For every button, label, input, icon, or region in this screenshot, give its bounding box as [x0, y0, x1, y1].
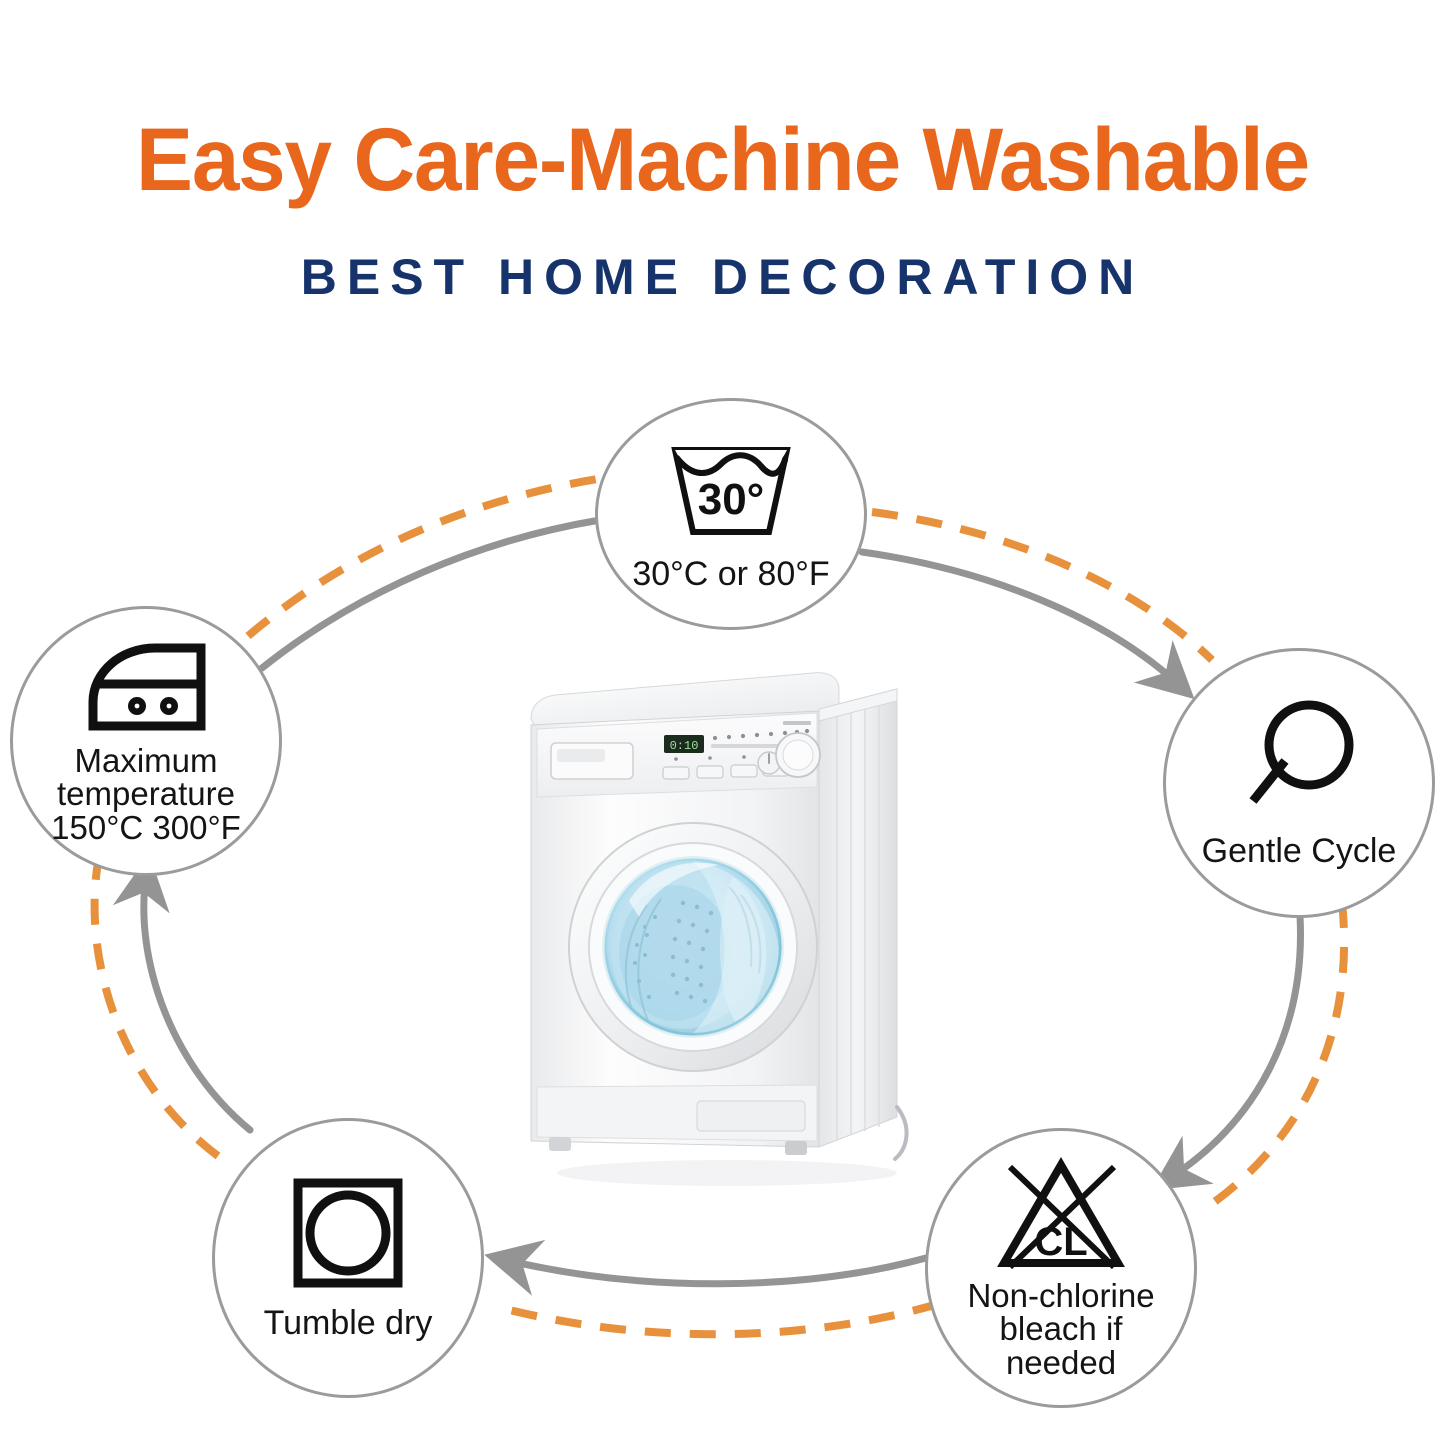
gentle-cycle-icon [1239, 697, 1359, 813]
no-chlorine-bleach-icon: CL [996, 1157, 1126, 1273]
cycle-node-bleach-caption: Non-chlorine bleach if needed [967, 1279, 1154, 1380]
iron-two-dots-icon [75, 638, 217, 738]
wash-tub-icon: 30° [665, 436, 797, 544]
connector-gentle-to-bleach [1170, 902, 1344, 1212]
cycle-node-bleach[interactable]: CL Non-chlorine bleach if needed [925, 1128, 1197, 1408]
cycle-node-wash-caption: 30°C or 80°F [632, 556, 829, 592]
cycle-node-gentle-caption: Gentle Cycle [1202, 833, 1397, 869]
cycle-node-tumble-caption: Tumble dry [264, 1305, 433, 1341]
bleach-cl-text: CL [1034, 1220, 1087, 1264]
cycle-node-iron-caption: Maximum temperature 150°C 300°F [51, 744, 241, 845]
cycle-node-tumble[interactable]: Tumble dry [212, 1118, 484, 1398]
infographic-canvas: Easy Care-Machine Washable BEST HOME DEC… [0, 0, 1445, 1445]
washing-machine-image: 0:10 [497, 655, 957, 1205]
connector-tumble-to-iron [95, 862, 250, 1156]
connector-iron-to-wash [248, 478, 604, 668]
wash-tub-temperature-text: 30° [698, 475, 765, 524]
machine-display-value: 0:10 [670, 739, 699, 753]
cycle-node-gentle[interactable]: Gentle Cycle [1163, 648, 1435, 918]
cycle-node-wash[interactable]: 30° 30°C or 80°F [595, 398, 867, 630]
tumble-dry-icon [290, 1175, 406, 1291]
cycle-node-iron[interactable]: Maximum temperature 150°C 300°F [10, 606, 282, 876]
connector-bleach-to-tumble [494, 1258, 938, 1334]
